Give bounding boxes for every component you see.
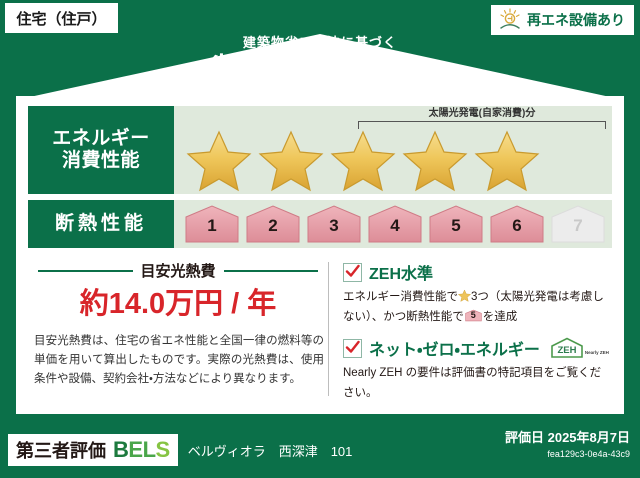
utility-cost-column: 目安光熱費 約14.0万円 / 年 目安光熱費は、住宅の省エネ性能と全国一律の燃… <box>28 256 328 402</box>
star-icon <box>330 128 396 192</box>
checkmark-icon <box>343 263 362 282</box>
star-icon <box>186 128 252 192</box>
energy-star-rating <box>186 128 540 192</box>
energy-performance-value: 太陽光発電(自家消費)分 <box>174 106 612 194</box>
utility-cost-heading: 目安光熱費 <box>28 260 328 281</box>
insulation-level-badge: 6 <box>489 205 545 243</box>
net-zero-body: Nearly ZEH の要件は評価書の特記項目をご覧ください。 <box>343 364 612 403</box>
zeh-column: ZEH水準 エネルギー消費性能で3つ（太陽光発電は考慮しない）、かつ断熱性能で5… <box>343 256 612 402</box>
zeh-logo-sub: Nearly ZEH <box>585 351 609 359</box>
insulation-level-badge: 4 <box>367 205 423 243</box>
svg-text:ZEH: ZEH <box>557 345 576 356</box>
zeh-standard-body: エネルギー消費性能で3つ（太陽光発電は考慮しない）、かつ断熱性能で5を達成 <box>343 288 612 327</box>
insulation-level-number: 2 <box>245 217 301 234</box>
insulation-level-number: 5 <box>428 217 484 234</box>
utility-cost-label: 目安光熱費 <box>141 260 216 281</box>
evaluation-meta: 評価日 2025年8月7日 fea129c3-0e4a-43c9 <box>505 430 630 460</box>
column-divider <box>328 262 329 396</box>
insulation-level-badge: 3 <box>306 205 362 243</box>
bels-brand: BELS <box>113 437 170 463</box>
zeh-standard-item: ZEH水準 エネルギー消費性能で3つ（太陽光発電は考慮しない）、かつ断熱性能で5… <box>343 260 612 327</box>
star-icon <box>474 128 540 192</box>
housing-type-text: 住宅（住戸） <box>16 8 106 29</box>
zeh-body-part-a: エネルギー消費性能で <box>343 291 458 303</box>
third-party-label: 第三者評価 <box>16 437 106 463</box>
utility-cost-note: 目安光熱費は、住宅の省エネ性能と全国一律の燃料等の単価を用いて算出したものです。… <box>28 332 328 389</box>
net-zero-title: ネット・ゼロ・エネルギー <box>369 336 540 360</box>
energy-performance-key: エネルギー 消費性能 <box>28 106 174 194</box>
zeh-logo: ZEH Nearly ZEH <box>550 337 609 359</box>
star-icon <box>402 128 468 192</box>
insulation-level-scale: 1 2 3 4 5 <box>184 205 606 243</box>
inline-level-number: 5 <box>465 311 482 320</box>
energy-performance-label: 住宅（住戸） 再エネ設備あり 建築物省エネ法に基づく 省エネ性能ラベル <box>0 0 640 478</box>
energy-performance-row: エネルギー 消費性能 太陽光発電(自家消費)分 <box>28 106 612 194</box>
insulation-level-number: 6 <box>489 217 545 234</box>
label-footer: 第三者評価 BELS ベルヴィオラ 西深津 101 評価日 2025年8月7日 … <box>0 422 640 478</box>
insulation-level-number: 1 <box>184 217 240 234</box>
insulation-level-badge: 2 <box>245 205 301 243</box>
insulation-level-badge-inactive: 7 <box>550 205 606 243</box>
net-zero-energy-item: ネット・ゼロ・エネルギー ZEH Nearly ZEH Nearly ZEH の… <box>343 336 612 403</box>
bels-s: S <box>156 437 170 462</box>
energy-key-line2: 消費性能 <box>62 150 140 172</box>
evaluation-date: 評価日 2025年8月7日 <box>505 430 630 446</box>
energy-key-line1: エネルギー <box>52 128 150 150</box>
star-icon <box>458 289 471 302</box>
rule-right <box>224 270 319 272</box>
insulation-key-label: 断熱性能 <box>55 213 147 235</box>
evaluation-uid: fea129c3-0e4a-43c9 <box>505 448 630 461</box>
insulation-performance-key: 断熱性能 <box>28 200 174 248</box>
building-name: ベルヴィオラ 西深津 101 <box>188 441 353 460</box>
solar-annotation-text: 太陽光発電(自家消費)分 <box>358 108 606 119</box>
sun-solar-icon <box>497 8 523 32</box>
renewable-label: 再エネ設備あり <box>527 10 625 30</box>
insulation-performance-value: 1 2 3 4 5 <box>174 200 612 248</box>
housing-type-badge: 住宅（住戸） <box>5 3 118 33</box>
solar-annotation: 太陽光発電(自家消費)分 <box>358 108 606 129</box>
bels-b: B <box>113 437 128 462</box>
bels-badge: 第三者評価 BELS <box>8 434 178 466</box>
evaluation-date-label: 評価日 <box>505 430 544 445</box>
insulation-level-number: 7 <box>550 217 606 234</box>
net-zero-header: ネット・ゼロ・エネルギー ZEH Nearly ZEH <box>343 336 612 360</box>
insulation-level-inline-badge: 5 <box>465 308 482 323</box>
utility-cost-amount: 約14.0万円 / 年 <box>28 290 328 319</box>
insulation-level-badge: 1 <box>184 205 240 243</box>
insulation-level-badge: 5 <box>428 205 484 243</box>
bels-el: EL <box>128 437 155 462</box>
zeh-standard-header: ZEH水準 <box>343 260 612 284</box>
renewable-equipment-badge: 再エネ設備あり <box>491 5 634 35</box>
star-icon <box>258 128 324 192</box>
insulation-performance-row: 断熱性能 1 2 3 <box>28 200 612 248</box>
detail-columns: 目安光熱費 約14.0万円 / 年 目安光熱費は、住宅の省エネ性能と全国一律の燃… <box>28 256 612 402</box>
checkmark-icon <box>343 339 362 358</box>
rule-left <box>38 270 133 272</box>
evaluation-date-value: 2025年8月7日 <box>548 430 630 445</box>
zeh-standard-title: ZEH水準 <box>369 260 433 284</box>
zeh-body-part-c: を達成 <box>483 311 518 323</box>
insulation-level-number: 3 <box>306 217 362 234</box>
insulation-level-number: 4 <box>367 217 423 234</box>
label-body-panel: エネルギー 消費性能 太陽光発電(自家消費)分 <box>16 96 624 414</box>
